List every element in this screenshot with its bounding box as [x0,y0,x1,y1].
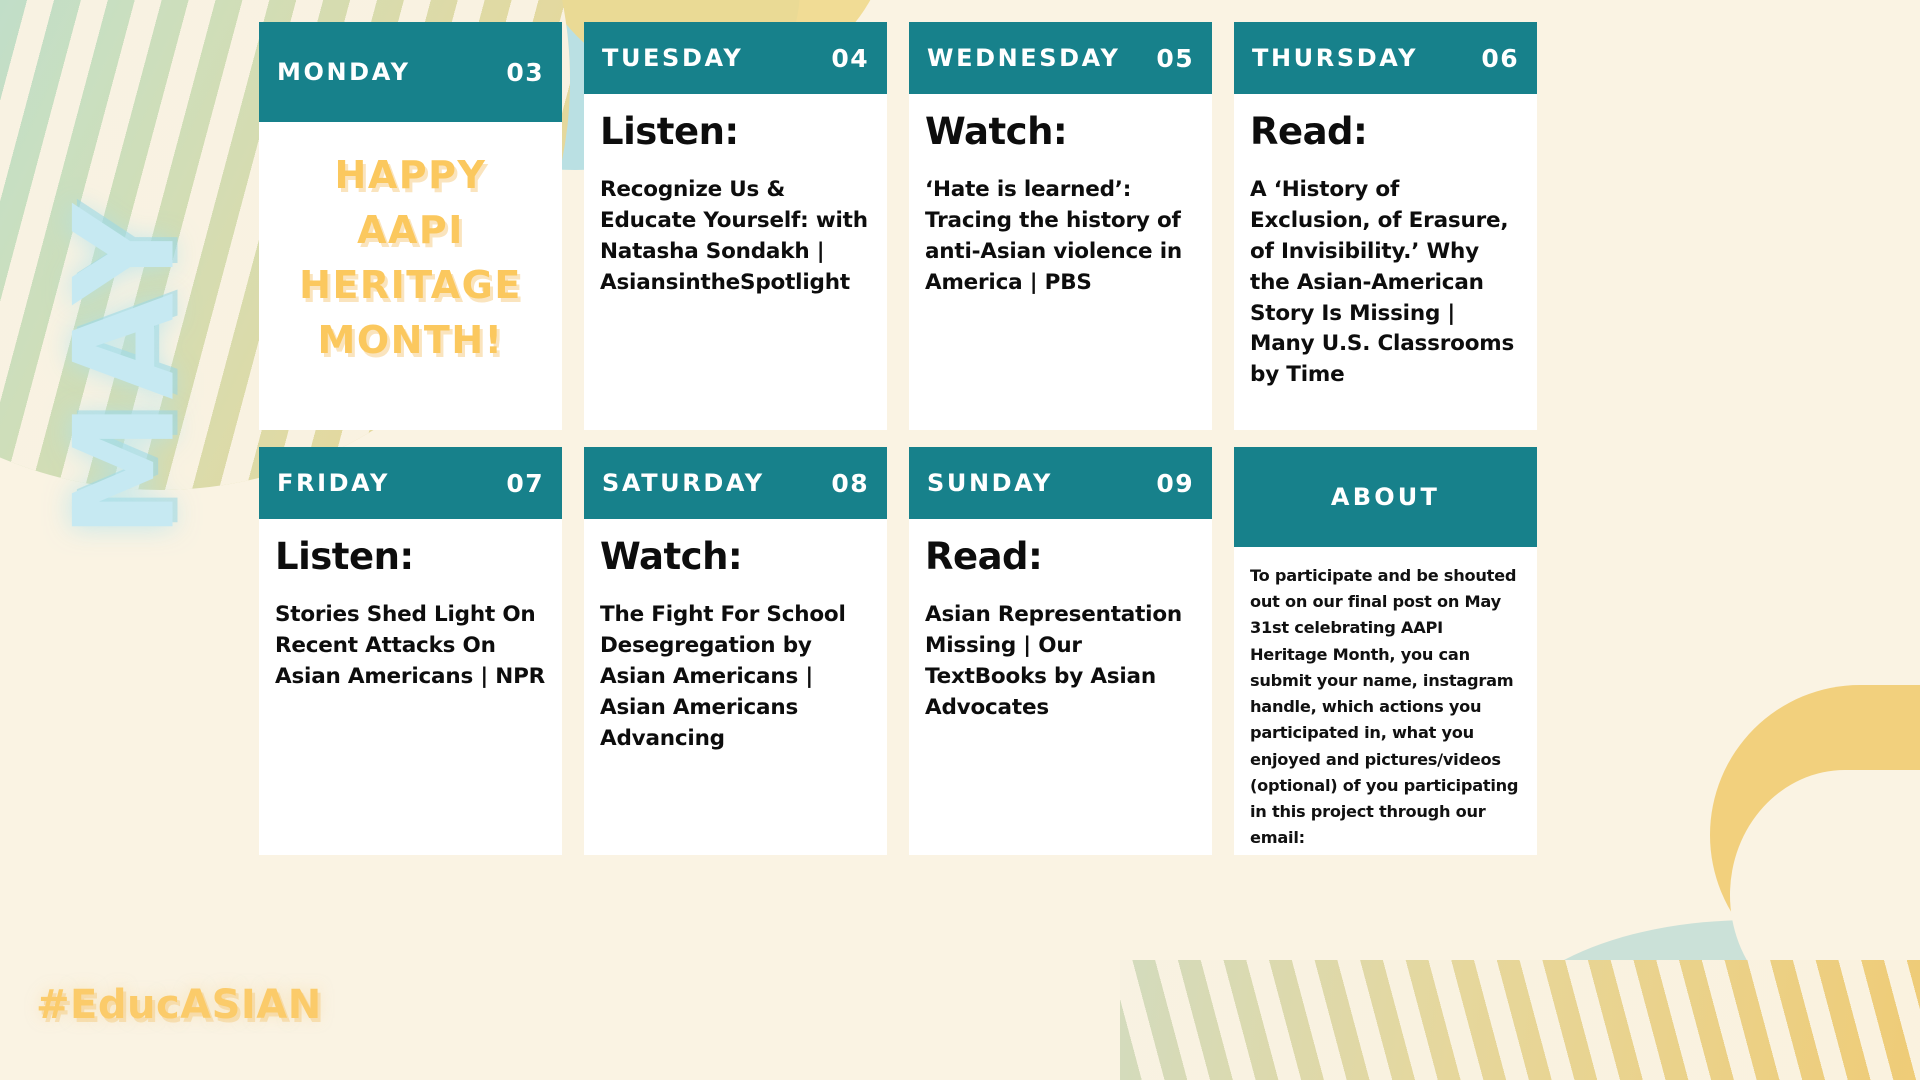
day-name-wednesday: WEDNESDAY [927,44,1121,72]
day-name-monday: MONDAY [277,58,411,86]
day-number-thursday: 06 [1481,44,1519,73]
calendar-card-friday[interactable]: FRIDAY 07 Listen: Stories Shed Light On … [259,447,562,855]
calendar-card-saturday[interactable]: SATURDAY 08 Watch: The Fight For School … [584,447,887,855]
card-body-friday: Listen: Stories Shed Light On Recent Att… [259,519,562,855]
action-label-tuesday: Listen: [600,112,871,153]
action-label-friday: Listen: [275,537,546,578]
yellow-arc-inner-cutout [1730,770,1920,1020]
calendar-card-tuesday[interactable]: TUESDAY 04 Listen: Recognize Us & Educat… [584,22,887,430]
card-body-wednesday: Watch: ‘Hate is learned’: Tracing the hi… [909,94,1212,430]
card-body-monday: HAPPYAAPIHERITAGEMONTH! [259,122,562,430]
entry-text-friday: Stories Shed Light On Recent Attacks On … [275,600,546,693]
day-name-friday: FRIDAY [277,469,390,497]
calendar-card-wednesday[interactable]: WEDNESDAY 05 Watch: ‘Hate is learned’: T… [909,22,1212,430]
calendar-card-sunday[interactable]: SUNDAY 09 Read: Asian Representation Mis… [909,447,1212,855]
action-label-thursday: Read: [1250,112,1521,153]
campaign-hashtag: #EducASIAN [36,982,322,1028]
day-number-monday: 03 [506,58,544,87]
day-name-sunday: SUNDAY [927,469,1053,497]
entry-text-wednesday: ‘Hate is learned’: Tracing the history o… [925,175,1196,299]
hero-greeting-text: HAPPYAAPIHERITAGEMONTH! [299,148,522,368]
action-label-sunday: Read: [925,537,1196,578]
about-title: ABOUT [1331,483,1440,511]
entry-text-saturday: The Fight For School Desegregation by As… [600,600,871,755]
about-description-text: To participate and be shouted out on our… [1250,563,1521,855]
card-header-about: ABOUT [1234,447,1537,547]
diagonal-stripes-bottom [1120,960,1920,1080]
day-number-sunday: 09 [1156,469,1194,498]
calendar-card-monday[interactable]: MONDAY 03 HAPPYAAPIHERITAGEMONTH! [259,22,562,430]
action-label-saturday: Watch: [600,537,871,578]
day-number-friday: 07 [506,469,544,498]
card-header-wednesday: WEDNESDAY 05 [909,22,1212,94]
entry-text-sunday: Asian Representation Missing | Our TextB… [925,600,1196,724]
day-number-tuesday: 04 [831,44,869,73]
calendar-grid: MONDAY 03 HAPPYAAPIHERITAGEMONTH! TUESDA… [259,22,1536,855]
card-header-saturday: SATURDAY 08 [584,447,887,519]
striped-band-bottom-right [1120,960,1920,1080]
card-header-monday: MONDAY 03 [259,22,562,122]
card-body-thursday: Read: A ‘History of Exclusion, of Erasur… [1234,94,1537,430]
calendar-card-thursday[interactable]: THURSDAY 06 Read: A ‘History of Exclusio… [1234,22,1537,430]
calendar-card-about[interactable]: ABOUT To participate and be shouted out … [1234,447,1537,855]
day-name-tuesday: TUESDAY [602,44,743,72]
entry-text-thursday: A ‘History of Exclusion, of Erasure, of … [1250,175,1521,392]
day-name-saturday: SATURDAY [602,469,765,497]
day-number-wednesday: 05 [1156,44,1194,73]
card-body-about: To participate and be shouted out on our… [1234,547,1537,855]
teal-blob-bottom-right [1500,920,1920,1080]
action-label-wednesday: Watch: [925,112,1196,153]
day-name-thursday: THURSDAY [1252,44,1418,72]
card-body-tuesday: Listen: Recognize Us & Educate Yourself:… [584,94,887,430]
card-header-sunday: SUNDAY 09 [909,447,1212,519]
yellow-arc-bottom-right [1710,685,1920,985]
month-watermark: MAY [45,191,206,551]
day-number-saturday: 08 [831,469,869,498]
entry-text-tuesday: Recognize Us & Educate Yourself: with Na… [600,175,871,299]
card-body-sunday: Read: Asian Representation Missing | Our… [909,519,1212,855]
card-header-friday: FRIDAY 07 [259,447,562,519]
card-header-tuesday: TUESDAY 04 [584,22,887,94]
card-body-saturday: Watch: The Fight For School Desegregatio… [584,519,887,855]
card-header-thursday: THURSDAY 06 [1234,22,1537,94]
